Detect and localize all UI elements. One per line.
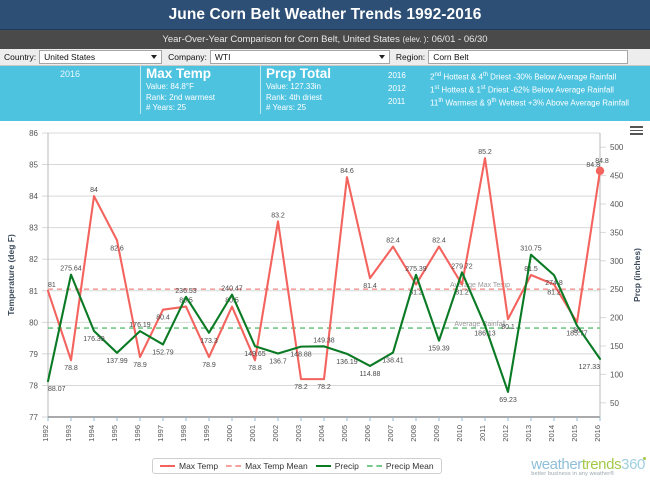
svg-text:84: 84 bbox=[29, 192, 38, 201]
svg-text:1992: 1992 bbox=[41, 425, 50, 442]
title-bar: June Corn Belt Weather Trends 1992-2016 bbox=[0, 0, 650, 30]
max-temp-title: Max Temp bbox=[146, 67, 260, 81]
svg-text:88.07: 88.07 bbox=[48, 386, 66, 393]
svg-text:2004: 2004 bbox=[317, 425, 326, 442]
chevron-down-icon bbox=[151, 55, 157, 59]
legend-swatch-precip bbox=[316, 465, 331, 467]
filter-company-label: Company: bbox=[164, 52, 210, 62]
legend-swatch-precip-mean bbox=[367, 465, 382, 467]
page-title: June Corn Belt Weather Trends 1992-2016 bbox=[169, 6, 482, 24]
svg-text:69.23: 69.23 bbox=[499, 397, 517, 404]
legend-swatch-max-temp-mean bbox=[226, 465, 241, 467]
svg-text:81.2: 81.2 bbox=[547, 289, 561, 296]
svg-text:2000: 2000 bbox=[225, 425, 234, 442]
subtitle-main: Year-Over-Year Comparison for Corn Belt,… bbox=[162, 34, 399, 45]
svg-text:2010: 2010 bbox=[455, 425, 464, 442]
svg-text:1997: 1997 bbox=[156, 425, 165, 442]
max-temp-years: # Years: 25 bbox=[146, 103, 260, 114]
svg-text:138.41: 138.41 bbox=[382, 358, 404, 365]
svg-text:274.8: 274.8 bbox=[545, 280, 563, 287]
max-temp-summary: Max Temp Value: 84.8°F Rank: 2nd warmest… bbox=[140, 66, 260, 114]
legend-label-max-temp: Max Temp bbox=[179, 461, 218, 471]
svg-text:159.39: 159.39 bbox=[428, 346, 450, 353]
filter-region: Region: Corn Belt bbox=[392, 49, 630, 65]
svg-text:2005: 2005 bbox=[340, 425, 349, 442]
svg-text:Temperature (deg F): Temperature (deg F) bbox=[6, 234, 16, 316]
weather-line-chart: 7778798081828384858650100150200250300350… bbox=[0, 121, 650, 461]
svg-text:310.75: 310.75 bbox=[520, 246, 542, 253]
svg-text:350: 350 bbox=[610, 228, 624, 237]
filter-bar: Country: United States Company: WTI Regi… bbox=[0, 49, 650, 66]
svg-text:300: 300 bbox=[610, 257, 624, 266]
svg-text:1995: 1995 bbox=[110, 425, 119, 442]
svg-text:1993: 1993 bbox=[64, 425, 73, 442]
legend-label-max-temp-mean: Max Temp Mean bbox=[245, 461, 308, 471]
legend-item-precip[interactable]: Precip bbox=[316, 461, 359, 471]
svg-text:176.39: 176.39 bbox=[83, 336, 105, 343]
svg-text:2008: 2008 bbox=[409, 425, 418, 442]
region-field[interactable]: Corn Belt bbox=[428, 50, 628, 64]
svg-text:82.4: 82.4 bbox=[432, 238, 446, 245]
svg-text:186.13: 186.13 bbox=[474, 330, 496, 337]
svg-text:127.33: 127.33 bbox=[579, 364, 601, 371]
note-text: 2nd Hottest & 4th Driest -30% Below Aver… bbox=[430, 70, 616, 83]
note-year: 2016 bbox=[388, 70, 430, 83]
svg-text:1998: 1998 bbox=[179, 425, 188, 442]
svg-text:450: 450 bbox=[610, 172, 624, 181]
svg-text:240.47: 240.47 bbox=[221, 286, 243, 293]
svg-text:137.99: 137.99 bbox=[106, 358, 128, 365]
svg-text:152.79: 152.79 bbox=[152, 349, 174, 356]
svg-text:200: 200 bbox=[610, 314, 624, 323]
chart-container: 7778798081828384858650100150200250300350… bbox=[0, 121, 650, 461]
svg-text:81.5: 81.5 bbox=[524, 266, 538, 273]
note-year: 2012 bbox=[388, 83, 430, 96]
svg-text:2012: 2012 bbox=[501, 425, 510, 442]
svg-text:81.2: 81.2 bbox=[455, 289, 469, 296]
prcp-total-rank: Rank: 4th driest bbox=[266, 93, 380, 104]
svg-text:2013: 2013 bbox=[524, 425, 533, 442]
svg-text:78.9: 78.9 bbox=[202, 362, 216, 369]
country-select[interactable]: United States bbox=[39, 50, 162, 64]
summary-year: 2016 bbox=[0, 66, 140, 79]
subtitle-dates: : 06/01 - 06/30 bbox=[426, 34, 487, 45]
highlight-notes: 2016 2nd Hottest & 4th Driest -30% Below… bbox=[388, 66, 629, 109]
chevron-down-icon bbox=[379, 55, 385, 59]
svg-text:81: 81 bbox=[48, 282, 56, 289]
subtitle-text: Year-Over-Year Comparison for Corn Belt,… bbox=[162, 34, 487, 45]
svg-text:80.1: 80.1 bbox=[501, 324, 515, 331]
prcp-total-value: Value: 127.33in bbox=[266, 82, 380, 93]
prcp-total-years: # Years: 25 bbox=[266, 103, 380, 114]
svg-text:78.8: 78.8 bbox=[64, 365, 78, 372]
svg-text:100: 100 bbox=[610, 370, 624, 379]
svg-text:79: 79 bbox=[29, 350, 38, 359]
chart-legend: Max Temp Max Temp Mean Precip Precip Mea… bbox=[152, 458, 442, 474]
svg-text:78.9: 78.9 bbox=[133, 362, 147, 369]
svg-text:Prcp (inches): Prcp (inches) bbox=[632, 248, 642, 302]
svg-text:279.72: 279.72 bbox=[451, 263, 473, 270]
svg-text:81.4: 81.4 bbox=[363, 283, 377, 290]
logo-dot-icon bbox=[643, 457, 646, 460]
svg-text:78: 78 bbox=[29, 381, 38, 390]
summary-info-panel: 2016 Max Temp Value: 84.8°F Rank: 2nd wa… bbox=[0, 66, 650, 121]
svg-text:77: 77 bbox=[29, 413, 38, 422]
company-select[interactable]: WTI bbox=[210, 50, 390, 64]
weather-trends-app: June Corn Belt Weather Trends 1992-2016 … bbox=[0, 0, 650, 484]
legend-item-max-temp-mean[interactable]: Max Temp Mean bbox=[226, 461, 308, 471]
svg-text:80.4: 80.4 bbox=[156, 315, 170, 322]
legend-label-precip-mean: Precip Mean bbox=[386, 461, 434, 471]
svg-text:2015: 2015 bbox=[570, 425, 579, 442]
svg-text:83: 83 bbox=[29, 224, 38, 233]
svg-text:2016: 2016 bbox=[593, 425, 602, 442]
legend-swatch-max-temp bbox=[160, 465, 175, 467]
prcp-total-title: Prcp Total bbox=[266, 67, 380, 81]
hamburger-menu-icon[interactable] bbox=[630, 126, 643, 137]
svg-text:84.6: 84.6 bbox=[340, 168, 354, 175]
svg-text:2009: 2009 bbox=[432, 425, 441, 442]
svg-text:1994: 1994 bbox=[87, 425, 96, 442]
svg-text:275.39: 275.39 bbox=[405, 266, 427, 273]
svg-text:84: 84 bbox=[90, 187, 98, 194]
svg-text:83.2: 83.2 bbox=[271, 212, 285, 219]
svg-text:2006: 2006 bbox=[363, 425, 372, 442]
subtitle-elevation: (elev. ) bbox=[402, 35, 426, 44]
svg-text:400: 400 bbox=[610, 200, 624, 209]
svg-text:2001: 2001 bbox=[248, 425, 257, 442]
svg-text:50: 50 bbox=[610, 399, 619, 408]
logo-part3: 360 bbox=[621, 456, 645, 473]
svg-text:85.2: 85.2 bbox=[478, 149, 492, 156]
note-text: 1st Hottest & 1st Driest -62% Below Aver… bbox=[430, 83, 614, 96]
svg-text:78.2: 78.2 bbox=[317, 384, 331, 391]
svg-text:136.7: 136.7 bbox=[269, 359, 287, 366]
legend-item-max-temp[interactable]: Max Temp bbox=[160, 461, 218, 471]
svg-text:250: 250 bbox=[610, 285, 624, 294]
filter-country: Country: United States bbox=[0, 49, 164, 65]
svg-text:Average Rainfall: Average Rainfall bbox=[454, 321, 506, 328]
filter-country-label: Country: bbox=[0, 52, 39, 62]
svg-text:82.4: 82.4 bbox=[386, 238, 400, 245]
svg-text:173.3: 173.3 bbox=[200, 338, 218, 345]
svg-text:85: 85 bbox=[29, 161, 38, 170]
prcp-total-summary: Prcp Total Value: 127.33in Rank: 4th dri… bbox=[260, 66, 380, 114]
company-select-value: WTI bbox=[215, 52, 231, 62]
region-field-value: Corn Belt bbox=[433, 52, 468, 62]
svg-text:1996: 1996 bbox=[133, 425, 142, 442]
svg-text:2011: 2011 bbox=[478, 425, 487, 441]
svg-text:2014: 2014 bbox=[547, 425, 556, 442]
svg-text:236.53: 236.53 bbox=[175, 288, 197, 295]
svg-text:176.19: 176.19 bbox=[129, 322, 151, 329]
svg-text:148.88: 148.88 bbox=[290, 352, 312, 359]
filter-company: Company: WTI bbox=[164, 49, 392, 65]
weathertrends360-logo: weathertrends360 better business in any … bbox=[531, 457, 646, 477]
svg-text:78.8: 78.8 bbox=[248, 365, 262, 372]
svg-text:86: 86 bbox=[29, 129, 38, 138]
svg-text:185.77: 185.77 bbox=[566, 331, 588, 338]
svg-text:500: 500 bbox=[610, 143, 624, 152]
svg-text:80: 80 bbox=[29, 318, 38, 327]
svg-text:2003: 2003 bbox=[294, 425, 303, 442]
svg-text:114.88: 114.88 bbox=[360, 371, 381, 378]
svg-text:82: 82 bbox=[29, 255, 38, 264]
svg-text:81: 81 bbox=[29, 287, 38, 296]
legend-item-precip-mean[interactable]: Precip Mean bbox=[367, 461, 434, 471]
svg-text:84.8: 84.8 bbox=[595, 158, 609, 165]
max-temp-rank: Rank: 2nd warmest bbox=[146, 93, 260, 104]
svg-text:82.6: 82.6 bbox=[110, 245, 124, 252]
country-select-value: United States bbox=[44, 52, 95, 62]
subtitle-bar: Year-Over-Year Comparison for Corn Belt,… bbox=[0, 30, 650, 49]
logo-wordmark: weathertrends360 bbox=[531, 457, 646, 472]
svg-text:275.64: 275.64 bbox=[60, 266, 82, 273]
highlight-note-row: 2016 2nd Hottest & 4th Driest -30% Below… bbox=[388, 70, 629, 83]
highlight-note-row: 2012 1st Hottest & 1st Driest -62% Below… bbox=[388, 83, 629, 96]
svg-text:1999: 1999 bbox=[202, 425, 211, 442]
svg-text:78.2: 78.2 bbox=[294, 384, 308, 391]
svg-text:149.65: 149.65 bbox=[244, 351, 266, 358]
note-text: 11th Warmest & 9th Wettest +3% Above Ave… bbox=[430, 96, 629, 109]
svg-text:136.19: 136.19 bbox=[336, 359, 358, 366]
legend-label-precip: Precip bbox=[335, 461, 359, 471]
max-temp-value: Value: 84.8°F bbox=[146, 82, 260, 93]
highlight-note-row: 2011 11th Warmest & 9th Wettest +3% Abov… bbox=[388, 96, 629, 109]
svg-text:150: 150 bbox=[610, 342, 624, 351]
svg-text:2007: 2007 bbox=[386, 425, 395, 442]
svg-text:2002: 2002 bbox=[271, 425, 280, 442]
note-year: 2011 bbox=[388, 96, 430, 109]
svg-text:149.38: 149.38 bbox=[313, 337, 335, 344]
filter-region-label: Region: bbox=[392, 52, 428, 62]
